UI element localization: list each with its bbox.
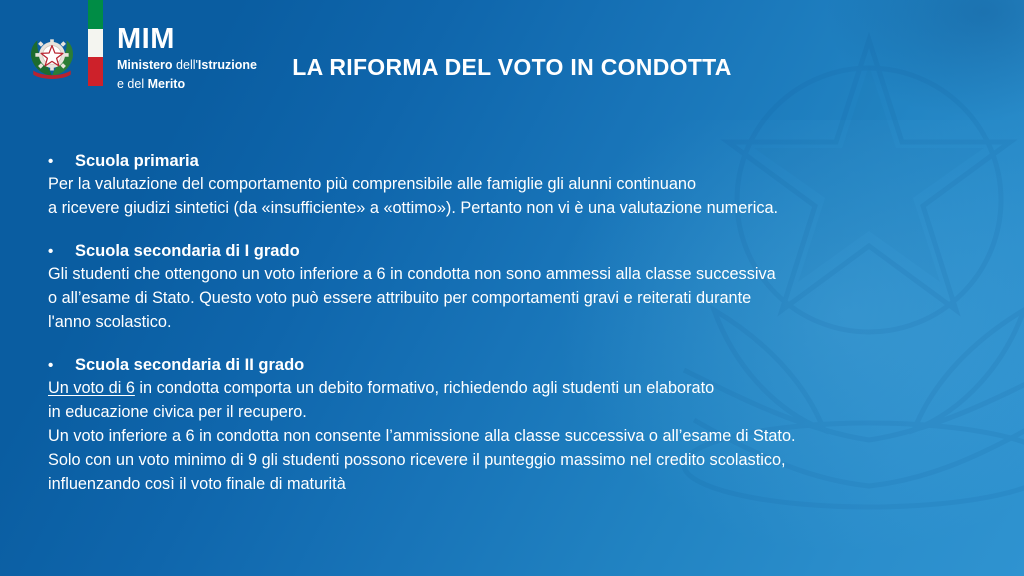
presentation-slide: MIM Ministero dell'Istruzione e del Meri… [0,0,1024,576]
block-paragraph: Gli studenti che ottengono un voto infer… [48,263,984,335]
block-heading-row: • Scuola secondaria di I grado [48,242,984,261]
paragraph-text-pre: Per la valutazione del comportamento più… [48,175,778,217]
block-heading-row: • Scuola secondaria di II grado [48,356,984,375]
block-heading: Scuola secondaria di II grado [75,356,304,375]
bullet-icon: • [48,154,75,169]
page-title: LA RIFORMA DEL VOTO IN CONDOTTA [0,54,1024,81]
content-block-secondaria-primo-grado: • Scuola secondaria di I grado Gli stude… [48,242,984,335]
ministry-logo: MIM Ministero dell'Istruzione e del Meri… [26,0,257,106]
content-block-secondaria-secondo-grado: • Scuola secondaria di II grado Un voto … [48,356,984,497]
paragraph-underlined-phrase: Un voto di 6 [48,379,135,397]
block-paragraph: Per la valutazione del comportamento più… [48,173,984,221]
bullet-icon: • [48,358,75,373]
flag-band-green [88,0,103,29]
paragraph-text-pre: Gli studenti che ottengono un voto infer… [48,265,776,331]
block-heading: Scuola secondaria di I grado [75,242,300,261]
block-paragraph: Un voto di 6 in condotta comporta un deb… [48,377,984,497]
content-block-scuola-primaria: • Scuola primaria Per la valutazione del… [48,152,984,221]
bullet-icon: • [48,244,75,259]
slide-body: • Scuola primaria Per la valutazione del… [48,152,984,497]
paragraph-text-post: in condotta comporta un debito formativo… [48,379,796,493]
logo-acronym: MIM [117,24,257,54]
block-heading-row: • Scuola primaria [48,152,984,171]
block-heading: Scuola primaria [75,152,199,171]
